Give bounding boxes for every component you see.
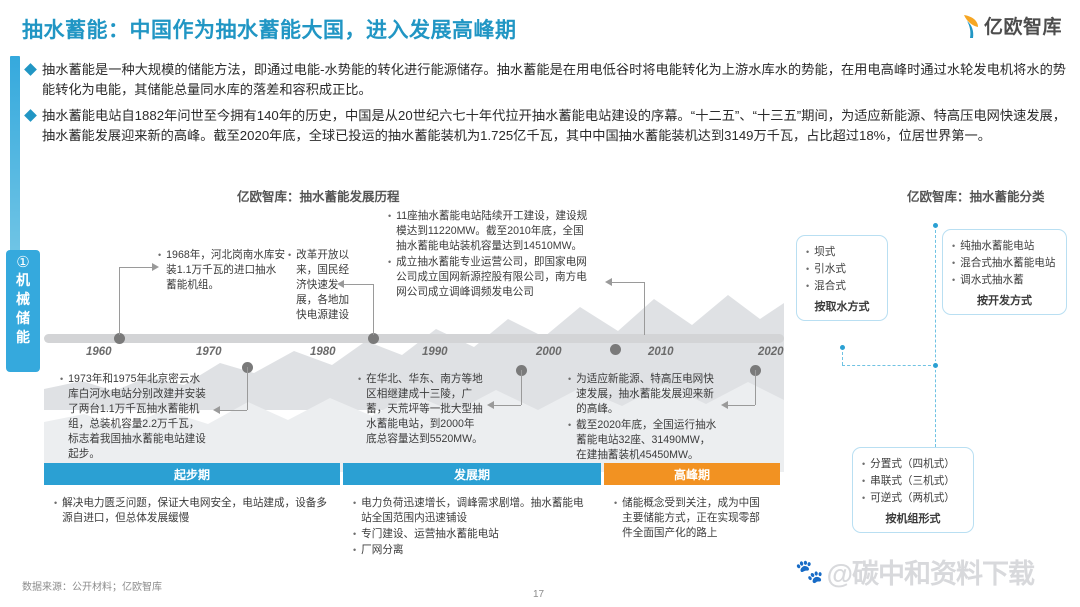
classification-item: 纯抽水蓄能电站: [960, 238, 1034, 255]
classification-item: 混合式抽水蓄能电站: [960, 255, 1055, 272]
note-text: 截至2020年底，全国运行抽水蓄能电站32座、31490MW，在建抽蓄装机454…: [576, 418, 718, 463]
sidebar-number: ①: [16, 254, 29, 271]
classification-box-unit-form[interactable]: 分置式（四机式） 串联式（三机式） 可逆式（两机式） 按机组形式: [852, 447, 974, 533]
classification-box-water-intake[interactable]: 坝式 引水式 混合式 按取水方式: [796, 235, 888, 321]
bullet-text: 抽水蓄能电站自1882年问世至今拥有140年的历史，中国是从20世纪六七十年代拉…: [42, 106, 1066, 146]
classification-item: 分置式（四机式）: [870, 456, 955, 473]
connector-node: [838, 343, 847, 352]
slide-page: 抽水蓄能：中国作为抽水蓄能大国，进入发展高峰期 亿欧智库 ① 机械储能 抽水蓄能…: [0, 0, 1080, 607]
phase-notes-group: 解决电力匮乏问题，保证大电网安全，电站建成，设备多源自进口，但总体发展缓慢 电力…: [44, 492, 780, 559]
axis-tick-1960: 1960: [86, 346, 112, 358]
leader-arrow-icon: [213, 406, 220, 414]
classification-item: 坝式: [814, 244, 835, 261]
leader-line: [521, 370, 522, 405]
timeline-note-1968: 1968年，河北岗南水库安装1.1万千瓦的进口抽水蓄能机组。: [158, 248, 286, 294]
leader-line: [119, 267, 152, 268]
leader-line: [247, 367, 248, 410]
logo-text: 亿欧智库: [984, 12, 1062, 39]
summary-bullets: 抽水蓄能是一种大规模的储能方法，即通过电能-水势能的转化进行能源储存。抽水蓄能是…: [26, 60, 1066, 152]
classification-box-title: 按开发方式: [952, 292, 1057, 308]
phase-label-growth[interactable]: 发展期: [343, 463, 601, 485]
note-text: 解决电力匮乏问题，保证大电网安全，电站建成，设备多源自进口，但总体发展缓慢: [62, 496, 330, 526]
timeline-axis: [44, 334, 784, 343]
diamond-bullet-icon: [24, 109, 37, 122]
bullet-item: 抽水蓄能是一种大规模的储能方法，即通过电能-水势能的转化进行能源储存。抽水蓄能是…: [26, 60, 1066, 100]
note-text: 在华北、华东、南方等地区相继建成十三陵，广蓄，天荒坪等一批大型抽水蓄能电站，到2…: [366, 372, 484, 447]
leader-line: [644, 282, 645, 335]
classification-item: 串联式（三机式）: [870, 473, 955, 490]
connector-node: [931, 361, 940, 370]
phase-label-startup[interactable]: 起步期: [44, 463, 340, 485]
leader-line: [728, 405, 755, 406]
brand-logo: 亿欧智库: [961, 12, 1062, 39]
note-text: 为适应新能源、特高压电网快速发展，抽水蓄能发展迎来新的高峰。: [576, 372, 718, 417]
timeline-note-2000: 在华北、华东、南方等地区相继建成十三陵，广蓄，天荒坪等一批大型抽水蓄能电站，到2…: [358, 372, 484, 448]
source-note: 数据来源：公开材料；亿欧智库: [22, 578, 162, 593]
timeline-note-2020: 为适应新能源、特高压电网快速发展，抽水蓄能发展迎来新的高峰。 截至2020年底，…: [568, 372, 718, 464]
paw-icon: 🐾: [795, 558, 823, 585]
phase-notes-peak: 储能概念受到关注，成为中国主要储能方式，正在实现零部件全面国产化的路上: [604, 492, 780, 559]
bullet-text: 抽水蓄能是一种大规模的储能方法，即通过电能-水势能的转化进行能源储存。抽水蓄能是…: [42, 60, 1066, 100]
timeline-event-dot: [610, 344, 621, 355]
timeline-note-2010: 11座抽水蓄能电站陆续开工建设，建设规模达到11220MW。截至2010年底，全…: [388, 209, 588, 301]
leader-line: [612, 282, 644, 283]
sidebar-item-label: 机械储能: [16, 271, 30, 347]
timeline-note-1973: 1973年和1975年北京密云水库白河水电站分别改建并安装了两台1.1万千瓦抽水…: [60, 372, 208, 463]
axis-tick-2020: 2020: [758, 346, 784, 358]
phase-notes-startup: 解决电力匮乏问题，保证大电网安全，电站建成，设备多源自进口，但总体发展缓慢: [44, 492, 340, 559]
timeline-note-reform: 改革开放以来，国民经济快速发展，各地加快电源建设: [288, 248, 356, 324]
axis-tick-1980: 1980: [310, 346, 336, 358]
axis-tick-1970: 1970: [196, 346, 222, 358]
note-text: 专门建设、运营抽水蓄能电站: [361, 527, 499, 542]
classification-item: 可逆式（两机式）: [870, 490, 955, 507]
watermark-text: @碳中和资料下载: [827, 552, 1034, 591]
leader-line: [119, 267, 120, 335]
note-text: 成立抽水蓄能专业运营公司，即国家电网公司成立国网新源控股有限公司，南方电网公司成…: [396, 255, 588, 300]
connector-node: [931, 221, 940, 230]
page-title: 抽水蓄能：中国作为抽水蓄能大国，进入发展高峰期: [22, 14, 517, 44]
classification-item: 引水式: [814, 261, 846, 278]
bullet-item: 抽水蓄能电站自1882年问世至今拥有140年的历史，中国是从20世纪六七十年代拉…: [26, 106, 1066, 146]
classification-caption: 亿欧智库：抽水蓄能分类: [907, 186, 1045, 205]
leader-arrow-icon: [487, 401, 494, 409]
left-accent-rail: [10, 56, 20, 251]
axis-tick-2000: 2000: [536, 346, 562, 358]
classification-item: 调水式抽水蓄: [960, 272, 1024, 289]
classification-item: 混合式: [814, 278, 846, 295]
classification-panel: 坝式 引水式 混合式 按取水方式 纯抽水蓄能电站 混合式抽水蓄能电站 调水式抽水…: [790, 225, 1075, 555]
connector-line: [842, 365, 936, 366]
axis-tick-2010: 2010: [648, 346, 674, 358]
classification-box-development-mode[interactable]: 纯抽水蓄能电站 混合式抽水蓄能电站 调水式抽水蓄 按开发方式: [942, 229, 1067, 315]
note-text: 厂网分离: [361, 543, 403, 558]
leaf-icon: [961, 13, 981, 39]
leader-line: [220, 410, 247, 411]
leader-line: [494, 405, 521, 406]
timeline-chart: 1960 1970 1980 1990 2000 2010 2020: [44, 210, 784, 470]
phase-notes-growth: 电力负荷迅速增长，调峰需求剧增。抽水蓄能电站全国范围内迅速铺设 专门建设、运营抽…: [343, 492, 601, 559]
classification-box-title: 按机组形式: [862, 510, 964, 526]
sidebar-category-chip: ① 机械储能: [6, 250, 40, 372]
connector-line: [935, 225, 936, 457]
page-number: 17: [533, 589, 544, 600]
diamond-bullet-icon: [24, 63, 37, 76]
phase-label-peak[interactable]: 高峰期: [604, 463, 780, 485]
leader-arrow-icon: [605, 278, 612, 286]
axis-tick-1990: 1990: [422, 346, 448, 358]
note-text: 储能概念受到关注，成为中国主要储能方式，正在实现零部件全面国产化的路上: [622, 496, 770, 541]
leader-line: [373, 284, 374, 335]
classification-box-title: 按取水方式: [806, 298, 878, 314]
leader-line: [755, 370, 756, 405]
note-text: 改革开放以来，国民经济快速发展，各地加快电源建设: [296, 248, 356, 323]
phase-bar-group: 起步期 发展期 高峰期: [44, 463, 780, 485]
watermark: 🐾 @碳中和资料下载: [795, 552, 1034, 591]
leader-arrow-icon: [721, 401, 728, 409]
note-text: 电力负荷迅速增长，调峰需求剧增。抽水蓄能电站全国范围内迅速铺设: [361, 496, 591, 526]
note-text: 11座抽水蓄能电站陆续开工建设，建设规模达到11220MW。截至2010年底，全…: [396, 209, 588, 254]
timeline-caption: 亿欧智库：抽水蓄能发展历程: [237, 186, 400, 205]
note-text: 1968年，河北岗南水库安装1.1万千瓦的进口抽水蓄能机组。: [166, 248, 286, 293]
note-text: 1973年和1975年北京密云水库白河水电站分别改建并安装了两台1.1万千瓦抽水…: [68, 372, 208, 462]
